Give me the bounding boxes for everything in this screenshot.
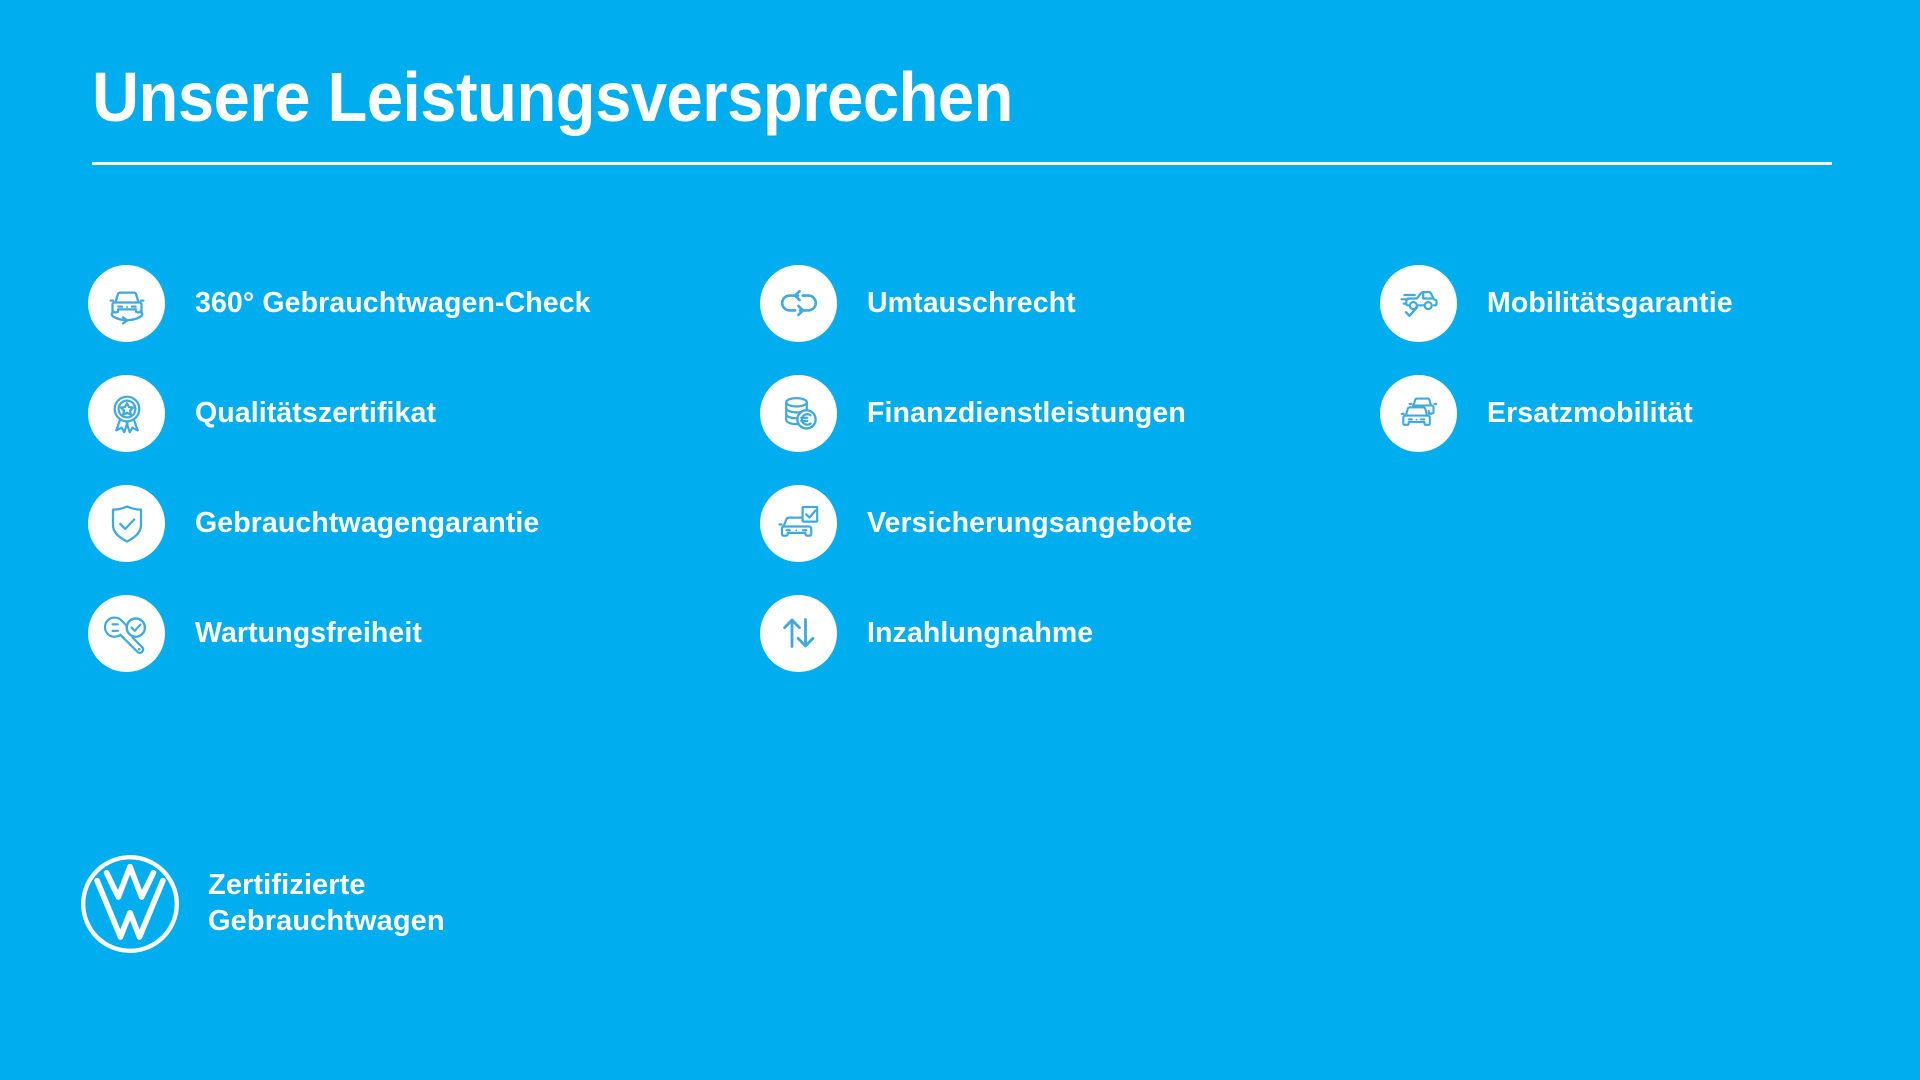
promise-label: Gebrauchtwagengarantie: [195, 507, 539, 540]
promise-label: Wartungsfreiheit: [195, 617, 422, 650]
page-title: Unsere Leistungsversprechen: [92, 60, 1710, 134]
promises-grid: 360° Gebrauchtwagen-Check Qualitätszerti…: [0, 248, 1920, 788]
car-360-rotation-icon: [88, 265, 165, 342]
promise-item-exchange-right[interactable]: Umtauschrecht: [760, 248, 1320, 358]
promise-label: Qualitätszertifikat: [195, 397, 436, 430]
title-divider: [92, 162, 1832, 165]
promise-label: Ersatzmobilität: [1487, 397, 1693, 430]
volkswagen-logo: [78, 852, 182, 956]
car-checkbox-icon: [760, 485, 837, 562]
promises-column-1: 360° Gebrauchtwagen-Check Qualitätszerti…: [88, 248, 648, 688]
header: Unsere Leistungsversprechen: [92, 60, 1832, 165]
promise-label: Inzahlungnahme: [867, 617, 1093, 650]
promise-item-quality-certificate[interactable]: Qualitätszertifikat: [88, 358, 648, 468]
promise-item-trade-in[interactable]: Inzahlungnahme: [760, 578, 1320, 688]
promise-item-used-car-warranty[interactable]: Gebrauchtwagengarantie: [88, 468, 648, 578]
promise-label: 360° Gebrauchtwagen-Check: [195, 287, 591, 320]
two-cars-icon: [1380, 375, 1457, 452]
certified-used-car-seal: Zertifizierte Gebrauchtwagen: [78, 852, 445, 956]
exchange-arrows-icon: [760, 265, 837, 342]
seal-label: Zertifizierte Gebrauchtwagen: [208, 868, 445, 940]
promise-label: Umtauschrecht: [867, 287, 1076, 320]
promise-item-insurance-offers[interactable]: Versicherungsangebote: [760, 468, 1320, 578]
wrench-check-icon: [88, 595, 165, 672]
promise-label: Mobilitätsgarantie: [1487, 287, 1733, 320]
promise-item-financial-services[interactable]: Finanzdienstleistungen: [760, 358, 1320, 468]
promises-column-3: Mobilitätsgarantie Ersatzmobilität: [1380, 248, 1900, 468]
shield-check-icon: [88, 485, 165, 562]
award-ribbon-star-icon: [88, 375, 165, 452]
moving-car-check-icon: [1380, 265, 1457, 342]
up-down-arrows-icon: [760, 595, 837, 672]
coin-stack-euro-icon: [760, 375, 837, 452]
promise-item-360-check[interactable]: 360° Gebrauchtwagen-Check: [88, 248, 648, 358]
promise-item-replacement-mobility[interactable]: Ersatzmobilität: [1380, 358, 1900, 468]
promise-item-mobility-guarantee[interactable]: Mobilitätsgarantie: [1380, 248, 1900, 358]
promise-item-maintenance-free[interactable]: Wartungsfreiheit: [88, 578, 648, 688]
promises-column-2: Umtauschrecht Finanzdienstleistungen: [760, 248, 1320, 688]
promise-label: Versicherungsangebote: [867, 507, 1192, 540]
promise-label: Finanzdienstleistungen: [867, 397, 1186, 430]
